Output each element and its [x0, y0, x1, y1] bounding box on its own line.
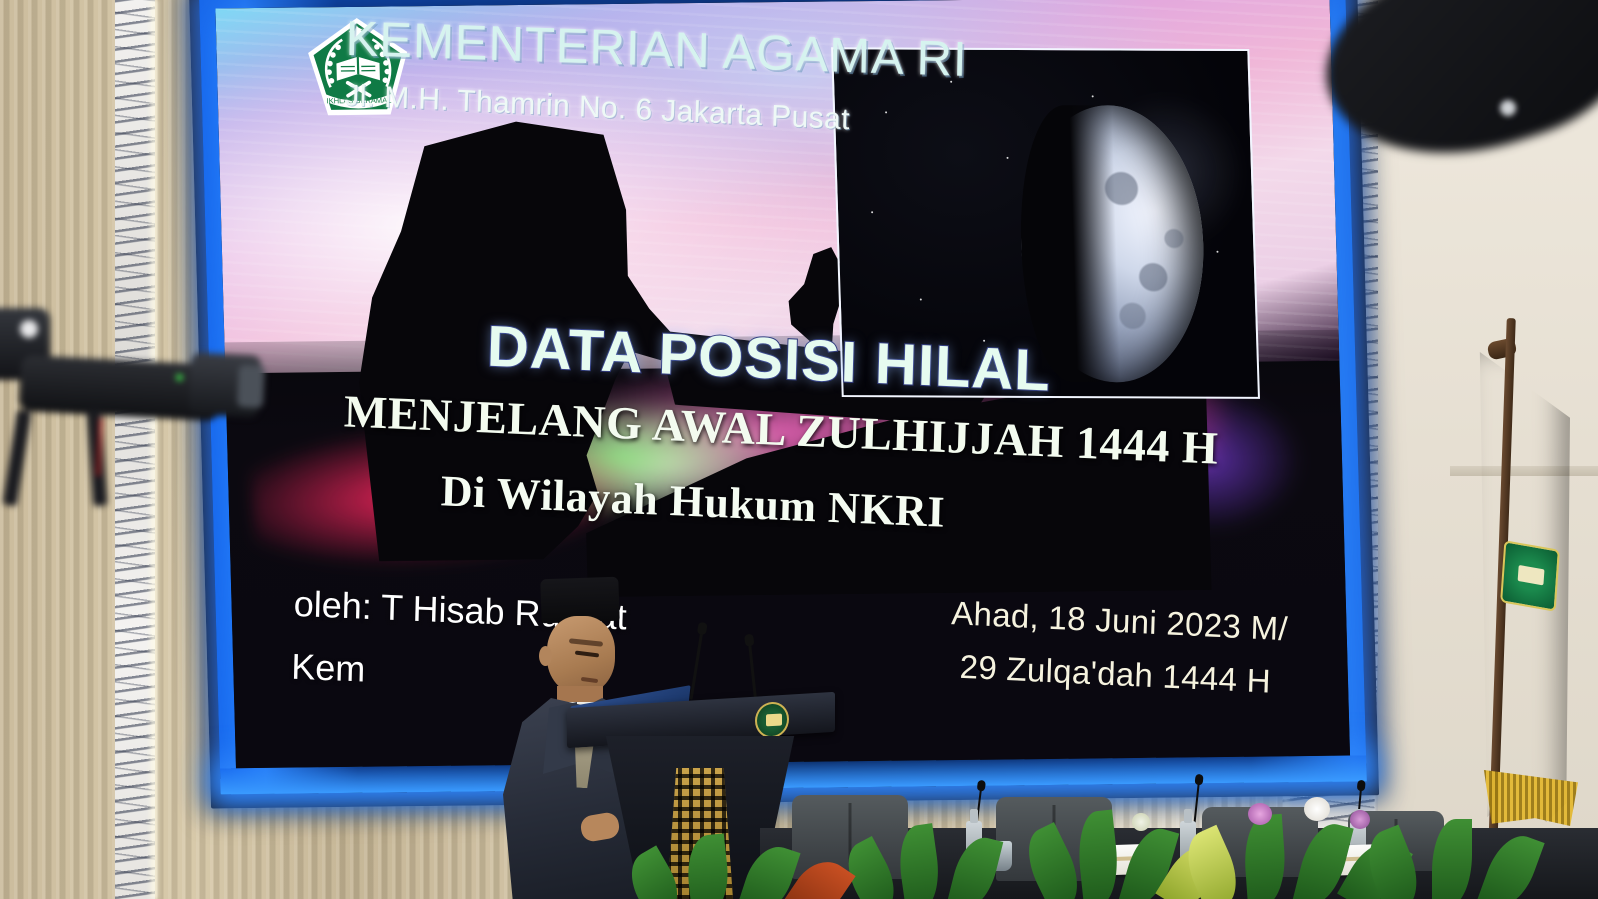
leaf [1074, 810, 1122, 899]
camera-status-led [176, 374, 183, 381]
broadcast-camera [0, 250, 280, 490]
scene-root: IKHLAS BERAMAL KEMENTERIAN AGAMA RI Jl. … [0, 0, 1598, 899]
leaf [684, 833, 732, 899]
led-presentation-screen: IKHLAS BERAMAL KEMENTERIAN AGAMA RI Jl. … [189, 0, 1379, 808]
camera-lens [188, 352, 261, 418]
floral-arrangement [1380, 807, 1560, 899]
slide-canvas: IKHLAS BERAMAL KEMENTERIAN AGAMA RI Jl. … [215, 0, 1350, 768]
slide-byline-line2: Kem [291, 646, 366, 691]
leaf [894, 823, 943, 899]
leaf [1242, 814, 1288, 899]
flower [1248, 803, 1272, 825]
leaf [1477, 828, 1544, 899]
flower [1304, 797, 1330, 821]
camera-tally-light [20, 320, 38, 338]
leaf [1432, 819, 1472, 899]
flower [1132, 813, 1150, 831]
flower [1350, 810, 1370, 829]
speaker-ear [539, 646, 552, 666]
leaf [947, 832, 1004, 899]
flag-emblem [1500, 540, 1560, 612]
overhead-equipment-highlight [1500, 100, 1516, 116]
floral-arrangement [860, 813, 1040, 899]
floral-arrangement [640, 823, 840, 899]
